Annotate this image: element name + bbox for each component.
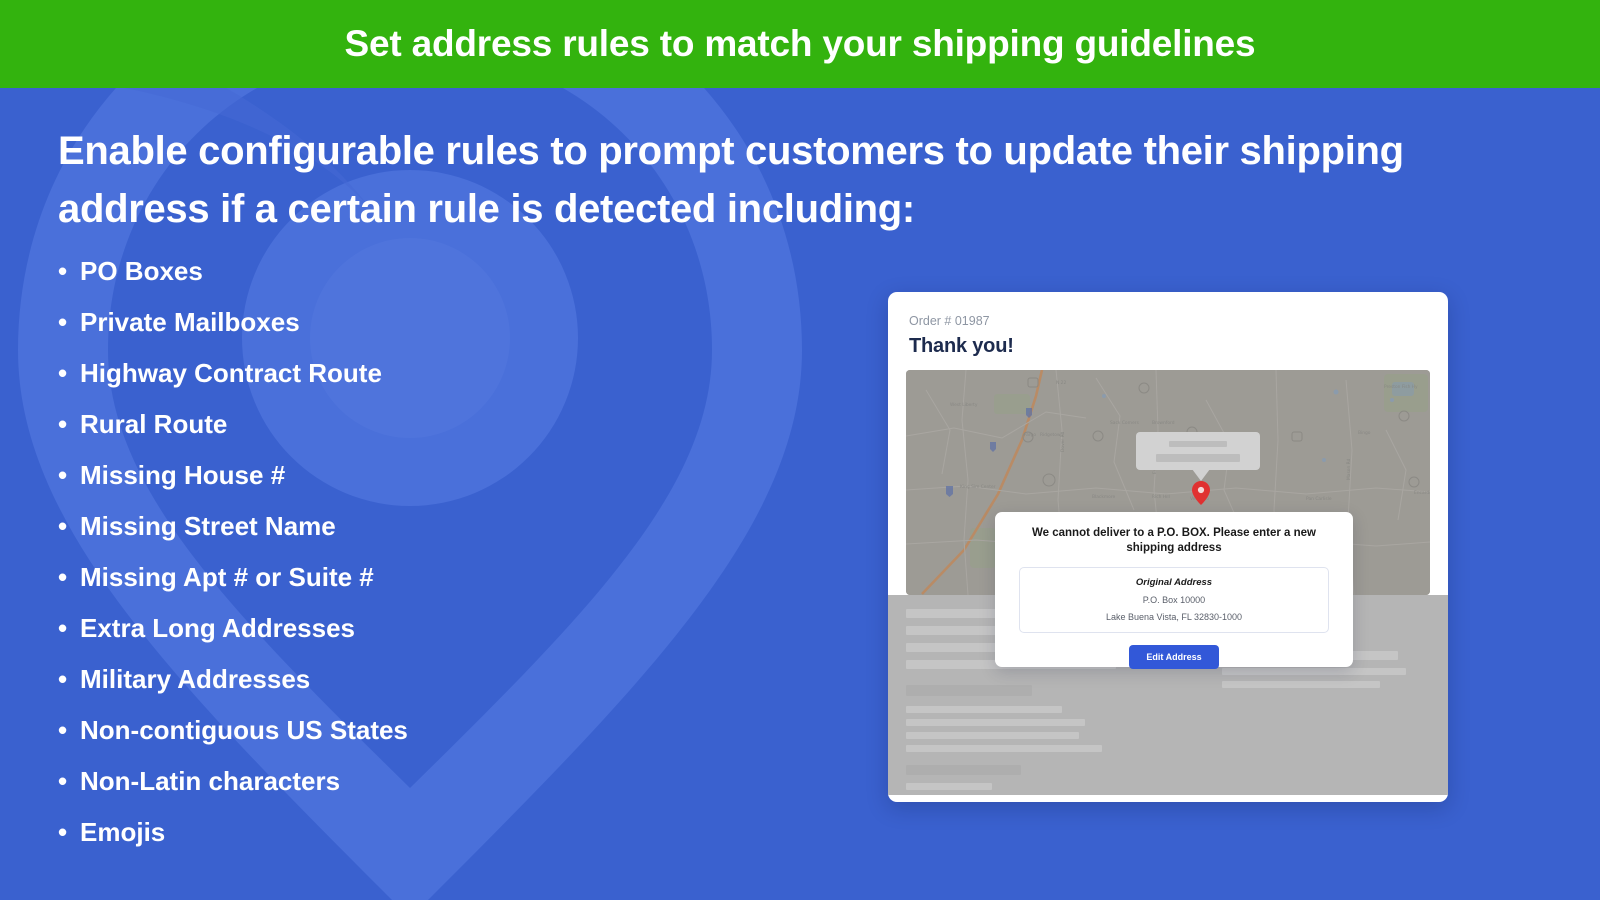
- list-item-label: Highway Contract Route: [80, 358, 382, 388]
- page-headline: Enable configurable rules to prompt cust…: [58, 122, 1478, 238]
- skeleton-line: [906, 765, 1021, 775]
- skeleton-line: [906, 706, 1062, 713]
- bullet-dot-icon: •: [58, 411, 80, 437]
- bullet-dot-icon: •: [58, 819, 80, 845]
- bubble-placeholder-line: [1156, 454, 1240, 462]
- skeleton-line: [906, 745, 1102, 752]
- bullet-dot-icon: •: [58, 768, 80, 794]
- list-item-label: Emojis: [80, 817, 165, 847]
- list-item: •Emojis: [58, 819, 848, 845]
- skeleton-line: [1222, 681, 1380, 688]
- list-item: •Highway Contract Route: [58, 360, 848, 386]
- list-item-label: Military Addresses: [80, 664, 310, 694]
- list-item-label: Non-Latin characters: [80, 766, 340, 796]
- bullet-dot-icon: •: [58, 513, 80, 539]
- list-item-label: Missing Apt # or Suite #: [80, 562, 374, 592]
- skeleton-line: [906, 783, 992, 790]
- list-item: •Non-Latin characters: [58, 768, 848, 794]
- list-item: •Non-contiguous US States: [58, 717, 848, 743]
- address-line-2: Lake Buena Vista, FL 32830-1000: [1030, 612, 1318, 622]
- list-item: •PO Boxes: [58, 258, 848, 284]
- edit-address-button[interactable]: Edit Address: [1129, 645, 1218, 669]
- list-item: •Missing Apt # or Suite #: [58, 564, 848, 590]
- bubble-placeholder-line: [1169, 441, 1227, 447]
- list-item: •Military Addresses: [58, 666, 848, 692]
- order-number: Order # 01987: [909, 314, 1430, 328]
- list-item-label: Missing House #: [80, 460, 285, 490]
- list-item: •Missing House #: [58, 462, 848, 488]
- content-column: Enable configurable rules to prompt cust…: [58, 122, 848, 870]
- original-address-box: Original Address P.O. Box 10000 Lake Bue…: [1019, 567, 1329, 633]
- rules-list: •PO Boxes •Private Mailboxes •Highway Co…: [58, 258, 848, 845]
- list-item-label: Private Mailboxes: [80, 307, 300, 337]
- address-warning-modal: We cannot deliver to a P.O. BOX. Please …: [995, 512, 1353, 667]
- top-banner: Set address rules to match your shipping…: [0, 0, 1600, 88]
- skeleton-line: [906, 685, 1032, 696]
- list-item-label: Missing Street Name: [80, 511, 336, 541]
- bullet-dot-icon: •: [58, 309, 80, 335]
- list-item-label: Extra Long Addresses: [80, 613, 355, 643]
- thank-you-heading: Thank you!: [909, 335, 1430, 358]
- banner-title: Set address rules to match your shipping…: [345, 23, 1256, 65]
- address-line-1: P.O. Box 10000: [1030, 595, 1318, 605]
- bullet-dot-icon: •: [58, 360, 80, 386]
- list-item: •Private Mailboxes: [58, 309, 848, 335]
- skeleton-line: [906, 732, 1079, 739]
- skeleton-line: [906, 719, 1085, 726]
- map-info-bubble: [1136, 432, 1260, 470]
- map-info-bubble-tail: [1192, 469, 1210, 481]
- promo-slide: Set address rules to match your shipping…: [0, 0, 1600, 900]
- list-item-label: PO Boxes: [80, 256, 203, 286]
- list-item: •Rural Route: [58, 411, 848, 437]
- bullet-dot-icon: •: [58, 564, 80, 590]
- list-item: •Extra Long Addresses: [58, 615, 848, 641]
- modal-title: We cannot deliver to a P.O. BOX. Please …: [1019, 526, 1329, 556]
- bullet-dot-icon: •: [58, 717, 80, 743]
- list-item: •Missing Street Name: [58, 513, 848, 539]
- original-address-label: Original Address: [1030, 577, 1318, 588]
- bullet-dot-icon: •: [58, 615, 80, 641]
- list-item-label: Non-contiguous US States: [80, 715, 408, 745]
- bullet-dot-icon: •: [58, 258, 80, 284]
- bullet-dot-icon: •: [58, 666, 80, 692]
- list-item-label: Rural Route: [80, 409, 227, 439]
- bullet-dot-icon: •: [58, 462, 80, 488]
